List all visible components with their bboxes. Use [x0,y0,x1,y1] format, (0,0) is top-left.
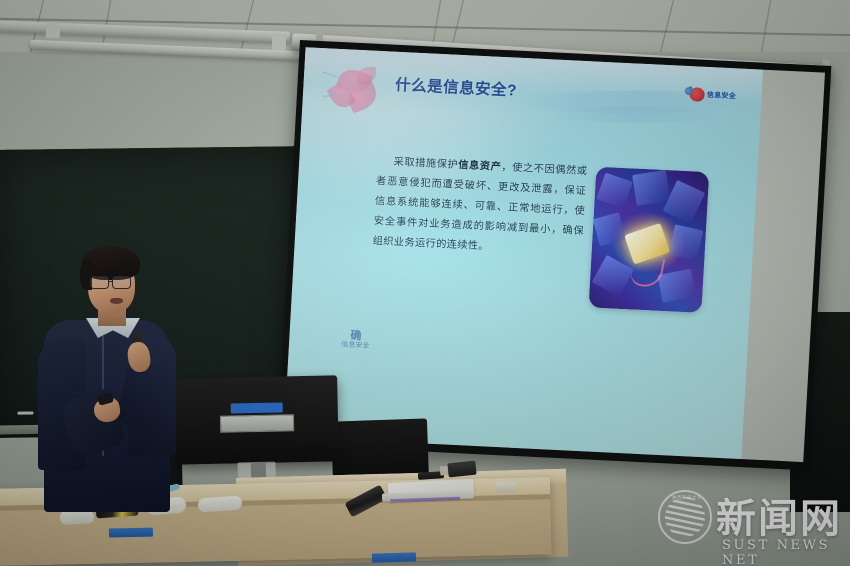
desk-id-label-left [109,528,153,538]
lecture-room-photo: ThreeStars 什么是信息安全? [0,0,850,566]
seal-subtext: 信息安全 [330,341,381,351]
small-black-device[interactable] [447,461,476,478]
whiteboard-eraser[interactable] [496,481,517,493]
slide-logo-text: 信息安全 [706,90,736,101]
light-mount-a [46,22,61,38]
glasses-bridge [109,281,113,282]
slide-body-text: 采取措施保护信息资产，使之不因偶然或者恶意侵犯而遭受破坏、更改及泄露，保证信息系… [372,152,588,262]
slide-corner-logo: 信息安全 [689,88,736,104]
screen-surface: 什么是信息安全? 信息安全 采取措施保护信息资产，使之不因偶然或者恶意侵犯而遭受… [284,47,825,462]
computer-monitor [175,375,339,464]
glasses-lens-left-icon [90,276,109,289]
chalk-piece [17,411,33,414]
monitor-blue-label [231,402,283,413]
body-line-1-pre: 采取措施保护 [393,157,458,171]
slide-illustration-image [589,167,709,313]
presentation-slide: 什么是信息安全? 信息安全 采取措施保护信息资产，使之不因偶然或者恶意侵犯而遭受… [284,47,763,459]
floral-decoration-icon [316,56,393,126]
desk-id-label-right [372,552,416,562]
company-logo-icon [689,88,705,103]
body-line-rest: ，使之不因偶然或者恶意侵犯而遭受破坏、更改及泄露，保证信息系统能够连续、可靠、正… [372,162,587,252]
presenter [36,244,176,510]
projection-screen: 什么是信息安全? 信息安全 采取措施保护信息资产，使之不因偶然或者恶意侵犯而遭受… [277,40,831,470]
body-bold-term: 信息资产 [458,160,502,173]
monitor-spec-plate [220,414,294,433]
presenter-mouth [110,298,123,304]
glasses-lens-right-icon [112,276,131,289]
light-mount-b [272,34,287,50]
